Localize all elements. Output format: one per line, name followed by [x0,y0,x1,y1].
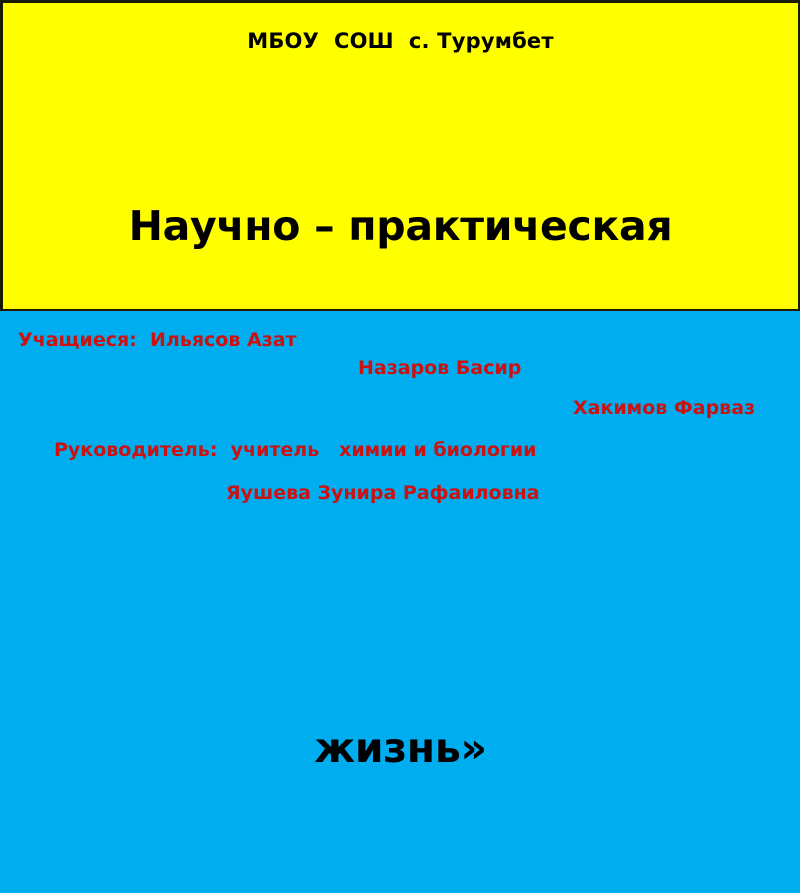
student-name-third: Хакимов Фарваз [573,396,755,420]
title-line-4: жизнь» [25,719,776,777]
supervisor-name: Яушева Зунира Рафаиловна [226,481,540,505]
student-name-second: Назаров Басир [358,356,521,380]
students-label-and-first-student: Учащиеся: Ильясов Азат [18,328,297,352]
school-name: МБОУ СОШ с. Турумбет [3,29,798,53]
supervisor-role-line: Руководитель: учитель химии и биологии [54,438,537,462]
title-line-1: Научно – практическая [25,197,776,255]
title-panel: МБОУ СОШ с. Турумбет Научно – практическ… [0,0,800,311]
credits-panel: Учащиеся: Ильясов Азат Назаров Басир Хак… [0,311,800,600]
presentation-slide: МБОУ СОШ с. Турумбет Научно – практическ… [0,0,800,600]
